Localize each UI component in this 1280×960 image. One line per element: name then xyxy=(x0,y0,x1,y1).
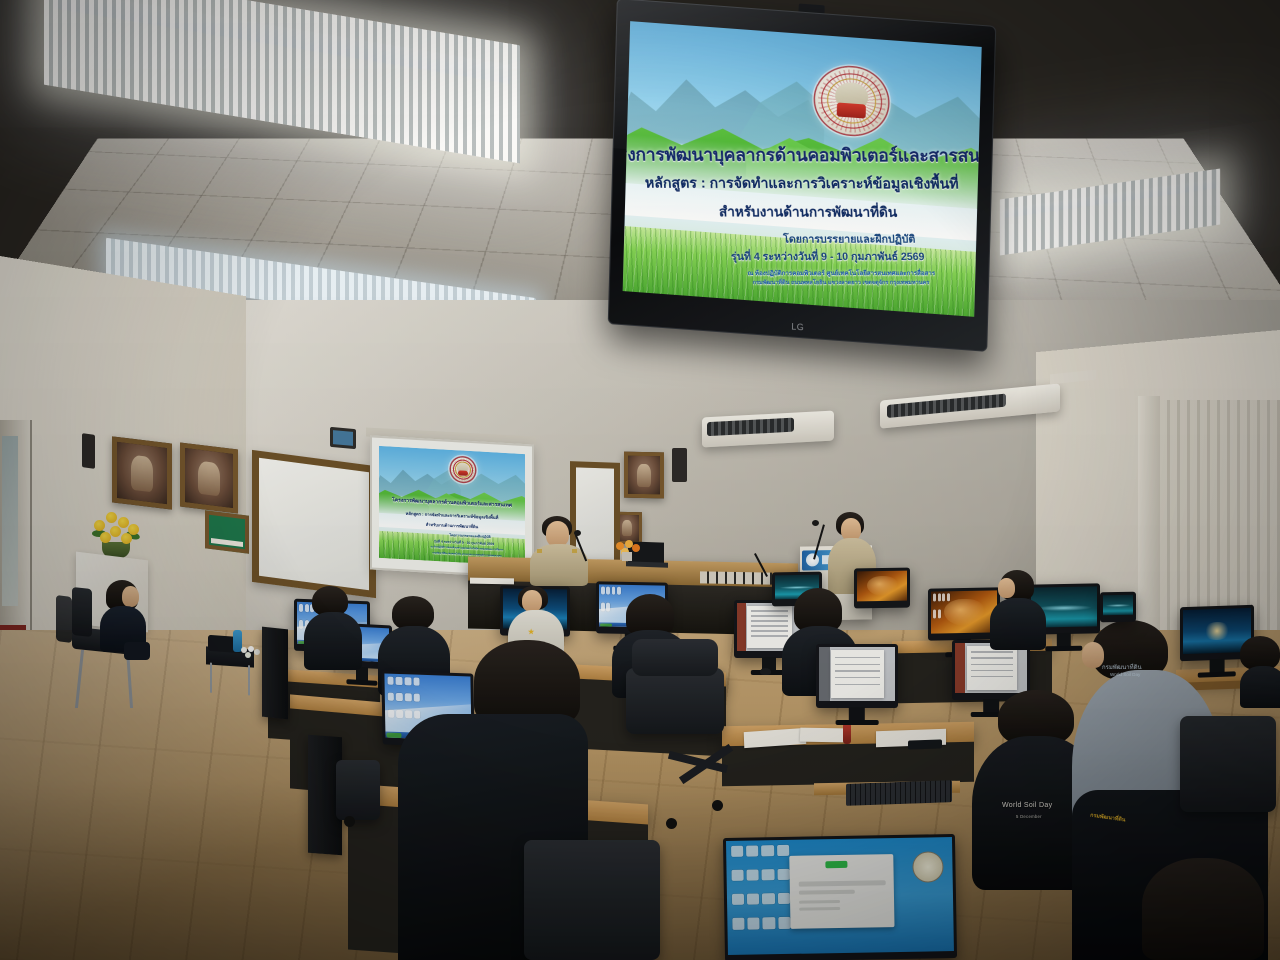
pc-tower xyxy=(262,627,288,720)
flower-arrangement-icon xyxy=(88,508,144,558)
slide-method: โดยการบรรยายและฝึกปฏิบัติ xyxy=(783,231,916,248)
framed-portrait xyxy=(112,436,172,509)
photo-scene: โครงการพัฒนาบุคลากรด้านคอมพิวเตอร์และสาร… xyxy=(0,0,1280,960)
line-logo-icon xyxy=(825,861,848,869)
stacked-chair[interactable] xyxy=(56,595,72,643)
seated-observer-figure xyxy=(96,580,154,654)
participant-figure xyxy=(304,586,362,670)
control-panel xyxy=(700,571,772,584)
tv-screen: โครงการพัฒนาบุคลากรด้านคอมพิวเตอร์และสาร… xyxy=(623,21,982,317)
slide-footer-line-2: กรมพัฒนาที่ดิน ถนนพหลโยธิน แขวงลาดยาว เข… xyxy=(753,279,930,287)
office-chair[interactable] xyxy=(626,668,724,734)
slide-course-line-1: หลักสูตร : การจัดทำและการวิเคราะห์ข้อมูล… xyxy=(644,172,959,195)
monitor[interactable] xyxy=(854,568,910,609)
water-bottle xyxy=(843,724,851,744)
wall-monitor-icon xyxy=(330,427,356,449)
jacket-badge-text: World Soil Day xyxy=(1110,672,1140,677)
office-chair[interactable] xyxy=(336,760,380,820)
participant-figure xyxy=(990,570,1046,650)
jacket-logo-text: กรมพัฒนาที่ดิน xyxy=(1102,662,1142,672)
chair-wheel xyxy=(344,816,355,827)
line-app-window[interactable] xyxy=(790,854,895,929)
shirt-text: World Soil Day xyxy=(1002,802,1052,809)
handout-papers xyxy=(800,728,847,743)
framed-portrait xyxy=(624,452,664,499)
white-flowers-icon xyxy=(240,646,262,662)
wall-speaker-icon xyxy=(672,448,687,482)
slide-course-line-2: สำหรับงานด้านการพัฒนาที่ดิน xyxy=(718,200,897,223)
slide-title: โครงการพัฒนาบุคลากรด้านคอมพิวเตอร์และสาร… xyxy=(623,140,982,169)
slide-footer-line-1: ณ ห้องปฏิบัติการคอมพิวเตอร์ ศูนย์เทคโนโล… xyxy=(747,268,935,278)
chair-back[interactable] xyxy=(72,587,92,637)
participant-figure xyxy=(1240,636,1280,706)
microphone-icon xyxy=(574,530,581,536)
mouse[interactable] xyxy=(760,668,771,675)
participant-figure xyxy=(1136,858,1276,960)
clock-gadget-icon xyxy=(912,851,944,883)
chair-wheel xyxy=(666,818,677,829)
framed-portrait xyxy=(180,442,238,513)
podium-seal-icon xyxy=(806,553,819,566)
foreground-monitor[interactable] xyxy=(723,834,957,960)
monitor[interactable] xyxy=(816,644,898,708)
monitor[interactable] xyxy=(1100,592,1136,623)
door-glass xyxy=(2,436,18,606)
slide-session: รุ่นที่ 4 ระหว่างวันที่ 9 - 10 กุมภาพันธ… xyxy=(731,248,925,265)
green-matted-frame xyxy=(205,510,249,553)
chair-wheel xyxy=(712,800,723,811)
wall-speaker-icon xyxy=(82,433,95,469)
remote-control xyxy=(908,739,942,749)
shirt-subtext: 5 December xyxy=(1016,814,1042,819)
whiteboard xyxy=(252,450,376,598)
table-nameplate xyxy=(470,578,514,585)
flower-vase-icon xyxy=(614,540,640,560)
keyboard[interactable] xyxy=(846,780,952,806)
tv-brand-label: LG xyxy=(791,321,804,332)
office-chair[interactable] xyxy=(524,840,660,960)
office-chair[interactable] xyxy=(1180,716,1276,812)
microphone-icon xyxy=(812,520,819,526)
wall-mounted-tv[interactable]: โครงการพัฒนาบุคลากรด้านคอมพิวเตอร์และสาร… xyxy=(608,0,996,352)
